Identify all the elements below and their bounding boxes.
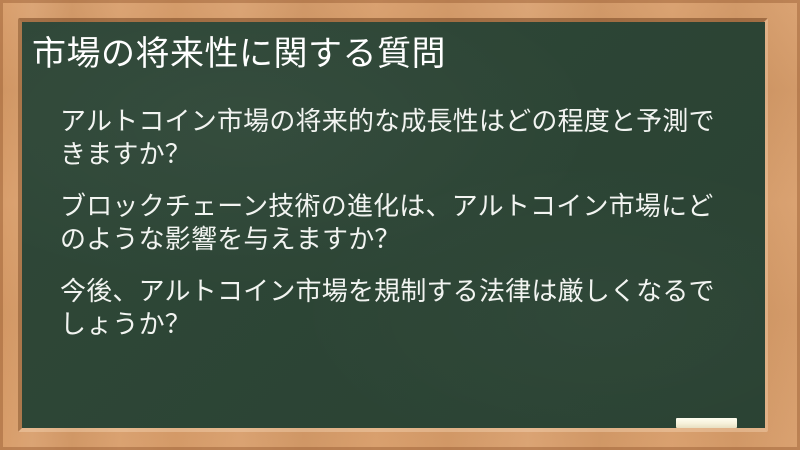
list-item: ブロックチェーン技術の進化は、アルトコイン市場にどのような影響を与えますか？: [60, 191, 728, 257]
list-item: 今後、アルトコイン市場を規制する法律は厳しくなるでしょうか？: [60, 276, 728, 342]
page-title: 市場の将来性に関する質問: [32, 32, 732, 76]
blackboard-slide: 市場の将来性に関する質問 アルトコイン市場の将来的な成長性はどの程度と予測できま…: [0, 0, 800, 450]
blackboard-surface: 市場の将来性に関する質問 アルトコイン市場の将来的な成長性はどの程度と予測できま…: [22, 22, 765, 428]
chalk-stick-icon: [676, 418, 737, 428]
question-list: アルトコイン市場の将来的な成長性はどの程度と予測できますか？ ブロックチェーン技…: [60, 106, 728, 342]
list-item: アルトコイン市場の将来的な成長性はどの程度と予測できますか？: [60, 106, 728, 172]
